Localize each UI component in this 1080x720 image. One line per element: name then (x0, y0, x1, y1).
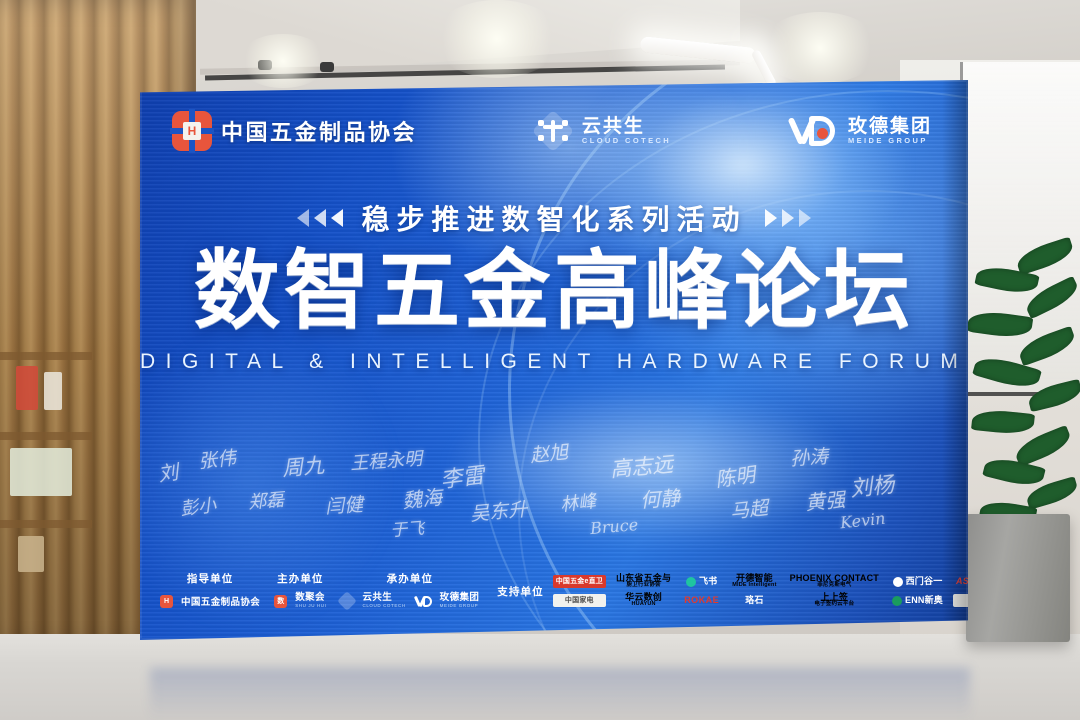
support-logo: 飞书 (681, 575, 722, 588)
support-logo-line2: MIDE Intelligent (732, 583, 776, 589)
logo-sublabel: CLOUD COTECH (582, 137, 671, 145)
signature: 闫健 (324, 490, 364, 520)
left-arrows-icon (297, 209, 343, 227)
shelf-object (44, 372, 62, 410)
shelf-object (10, 448, 72, 496)
sponsor-group-organizer: 主办单位 数 数聚会 SHU JU HUI (274, 571, 326, 611)
signature: 孙涛 (789, 442, 829, 472)
floor-reflection (150, 668, 970, 720)
support-logo: 西门谷一 (889, 575, 946, 588)
signature: 林峰 (559, 487, 598, 517)
signature: 周九 (281, 449, 325, 483)
sponsor-group-guidance: 指导单位 H 中国五金制品协会 (160, 571, 260, 611)
signature: 于飞 (389, 514, 425, 541)
support-logo: 上上签电子签约云平台 (787, 593, 882, 608)
meide-group-mark-icon (787, 111, 839, 151)
support-logo: 珞石 (729, 594, 779, 607)
sponsor-group-label: 支持单位 (497, 584, 543, 599)
hardware-association-mark-icon: H (160, 595, 173, 608)
signature: 王程永明 (349, 445, 423, 476)
planter-pot (966, 514, 1070, 642)
banner-title: 数智五金高峰论坛 (140, 248, 968, 334)
support-logo: ROKAE (681, 594, 722, 607)
cloud-cotech-mark-icon (533, 111, 573, 151)
sponsor-group-label: 承办单位 (387, 571, 433, 586)
signature: 郑磊 (247, 485, 285, 514)
banner-top-logo-row: H 中国五金制品协会 云共生 CLOUD COTECH (140, 102, 968, 160)
support-logo: ASD 爱仕达 (953, 575, 968, 588)
signature: Kevin (839, 509, 886, 533)
banner-subtitle-line: 稳步推进数智化系列活动 (140, 198, 968, 238)
sponsor-group-label: 指导单位 (187, 571, 233, 586)
banner-title-english: DIGITAL & INTELLIGENT HARDWARE FORUM (140, 350, 968, 374)
shelf (0, 432, 92, 440)
support-logo: 中国家电 (553, 594, 606, 607)
signature: 马超 (729, 493, 770, 524)
support-logo-label: 飞书 (699, 577, 717, 586)
logo-label: 云共生 (582, 117, 671, 137)
support-logo-line2: 厨卫行业协会 (626, 583, 660, 589)
sponsor-logo-sublabel: MEIDE GROUP (440, 604, 480, 609)
logo-sublabel: MEIDE GROUP (848, 137, 932, 145)
mark-letter: H (183, 122, 201, 140)
support-logo: ENN新奥 (889, 594, 946, 607)
spotlight-glow (760, 12, 880, 84)
shelf-object (16, 366, 38, 410)
support-logo: 中国五金e直卫 (553, 575, 606, 588)
signature: 赵旭 (529, 437, 570, 468)
logo-meide-group: 玫德集团 MEIDE GROUP (787, 111, 932, 151)
shelf (0, 352, 92, 360)
signature: 黄强 (804, 483, 846, 515)
logo-china-hardware-association: H 中国五金制品协会 (172, 111, 417, 151)
shujuhui-mark-icon: 数 (274, 595, 287, 608)
event-photo-scene: H 中国五金制品协会 云共生 CLOUD COTECH (0, 0, 1080, 720)
support-logo-label: 西门谷一 (906, 577, 943, 586)
event-backdrop-banner: H 中国五金制品协会 云共生 CLOUD COTECH (140, 80, 968, 640)
signature: 高志远 (609, 448, 674, 483)
handwritten-signatures: 刘张伟周九王程永明李雷赵旭高志远陈明孙涛刘杨彭小郑磊闫健魏海吴东升林峰何静马超黄… (140, 365, 968, 555)
signature: 陈明 (713, 458, 757, 492)
logo-cloud-cotech: 云共生 CLOUD COTECH (533, 111, 671, 151)
hardware-association-mark-icon: H (172, 111, 212, 151)
logo-label: 中国五金制品协会 (221, 115, 417, 147)
support-logo-icon (686, 577, 696, 587)
signature: 吴东升 (469, 495, 528, 527)
meide-group-mark-icon (414, 594, 432, 608)
support-logo-icon (893, 577, 903, 587)
spotlight-glow (432, 0, 562, 78)
support-logo-line2: 菲尼克斯电气 (817, 583, 851, 589)
signature: 张伟 (197, 443, 238, 474)
support-logo: 山东省五金与厨卫行业协会 (613, 574, 674, 589)
signature: 刘 (156, 456, 180, 488)
sponsor-logo-sublabel: SHU JU HUI (295, 604, 326, 609)
spotlight-glow (238, 34, 328, 88)
banner-subtitle: 稳步推进数智化系列活动 (361, 198, 746, 238)
sponsor-group-support: 支持单位 中国五金e直卫山东省五金与厨卫行业协会飞书开德智能MIDE Intel… (497, 574, 968, 608)
signature: 魏海 (401, 481, 444, 514)
light-glare (440, 380, 860, 550)
signature: 何静 (639, 482, 681, 514)
sponsor-logo-sublabel: CLOUD COTECH (362, 604, 405, 609)
logo-label: 玫德集团 (848, 117, 932, 137)
signature: 李雷 (438, 457, 486, 494)
shelf (0, 520, 92, 528)
sponsor-group-label: 主办单位 (277, 571, 323, 586)
right-arrows-icon (765, 209, 811, 227)
sponsor-bar: 指导单位 H 中国五金制品协会 主办单位 数 数聚会 SHU JU HUI 承办… (140, 560, 968, 622)
support-logo-line2: HUAYUN (631, 602, 655, 608)
signature: 彭小 (179, 491, 218, 521)
support-logo: PHOENIX CONTACT菲尼克斯电气 (787, 574, 882, 589)
signature: Bruce (589, 515, 639, 538)
cloud-cotech-mark-icon (338, 591, 358, 611)
support-logo: 华云数创HUAYUN (613, 593, 674, 608)
shelf-object (18, 536, 44, 572)
support-logo-icon (892, 596, 902, 606)
support-logo: 开德智能MIDE Intelligent (729, 574, 779, 589)
support-logo-line2: 电子签约云平台 (814, 602, 854, 608)
support-logo-grid: 中国五金e直卫山东省五金与厨卫行业协会飞书开德智能MIDE Intelligen… (553, 574, 968, 608)
sponsor-group-host: 承办单位 云共生 CLOUD COTECH 玫德集团 MEIDE GROUP (340, 571, 479, 611)
support-logo: CFK (953, 594, 968, 607)
sponsor-logo-label: 中国五金制品协会 (181, 594, 260, 608)
support-logo-label: ENN新奥 (905, 596, 943, 605)
signature: 刘杨 (848, 467, 895, 503)
